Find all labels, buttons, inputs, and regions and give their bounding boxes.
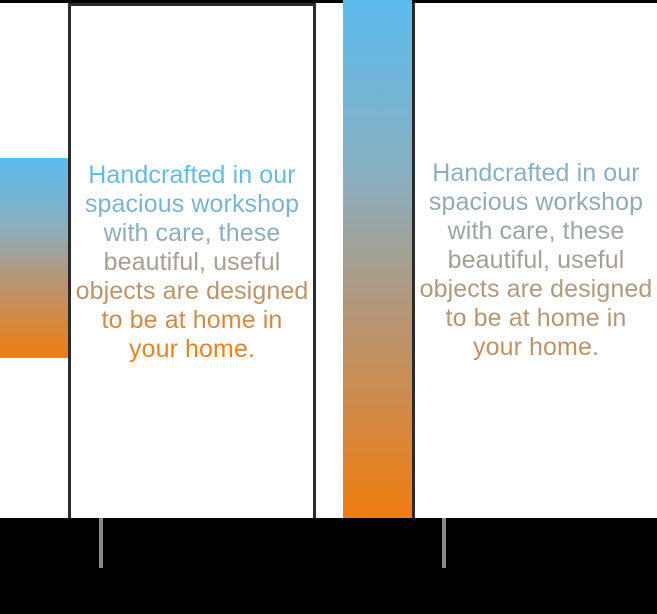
canvas-stage: Handcrafted in our spacious workshop wit… bbox=[0, 0, 657, 614]
gradient-text-right: Handcrafted in our spacious workshop wit… bbox=[415, 159, 657, 362]
gradient-text-left: Handcrafted in our spacious workshop wit… bbox=[71, 161, 313, 364]
text-panel-left: Handcrafted in our spacious workshop wit… bbox=[68, 3, 316, 518]
tick-right bbox=[442, 518, 446, 568]
tick-left bbox=[99, 518, 103, 568]
text-panel-right: Handcrafted in our spacious workshop wit… bbox=[412, 3, 657, 518]
gradient-swatch-tall bbox=[343, 0, 412, 518]
gradient-swatch-short bbox=[0, 158, 68, 358]
